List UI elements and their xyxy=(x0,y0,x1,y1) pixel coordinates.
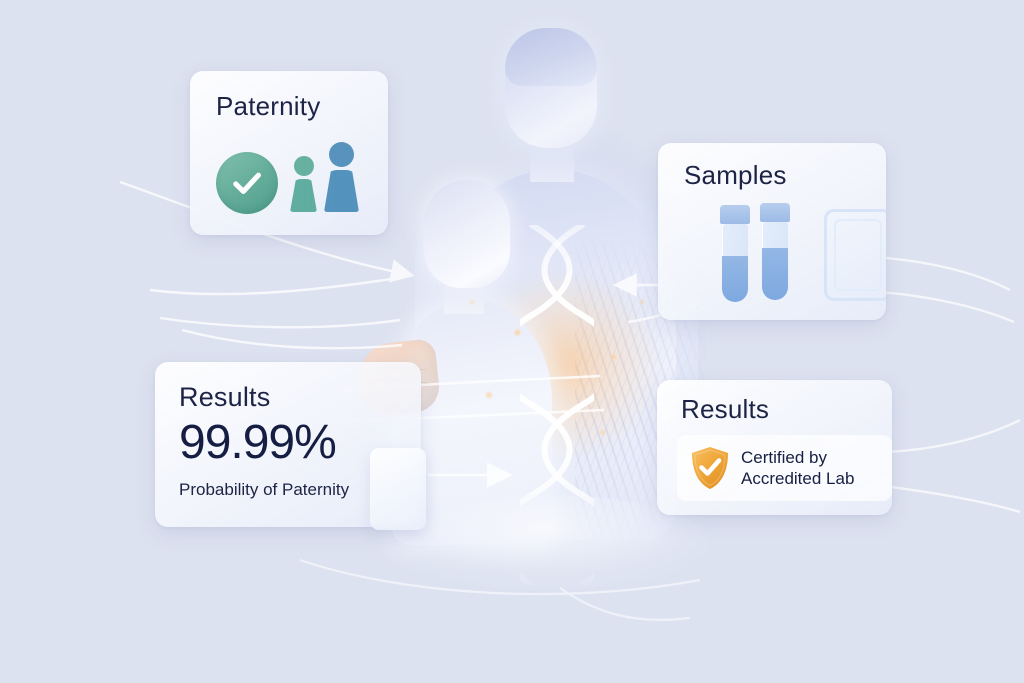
card-paternity[interactable]: Paternity xyxy=(190,71,388,235)
card-results-left-title: Results xyxy=(179,382,421,413)
paternity-icon-row xyxy=(216,142,388,214)
card-results-right[interactable]: Results Certified by Accredited Lab xyxy=(657,380,892,515)
card-paternity-title: Paternity xyxy=(216,91,388,122)
person-adult-glyph xyxy=(324,142,359,212)
card-blank-overlay[interactable] xyxy=(370,448,426,530)
shield-check-icon xyxy=(690,446,730,490)
person-child-glyph xyxy=(290,156,317,212)
check-circle-icon xyxy=(216,152,278,214)
infographic-canvas: Paternity Samples xyxy=(0,0,1024,683)
samples-icon-row xyxy=(684,203,886,307)
badge-line-2: Accredited Lab xyxy=(741,468,854,489)
card-samples-title: Samples xyxy=(684,160,886,191)
family-people-icon xyxy=(290,142,359,214)
card-results-right-title: Results xyxy=(681,394,892,425)
card-samples[interactable]: Samples xyxy=(658,143,886,320)
test-tube-icon xyxy=(720,205,750,301)
badge-text-block: Certified by Accredited Lab xyxy=(741,447,854,489)
connector-lines xyxy=(0,0,1024,683)
tube-cap xyxy=(760,203,790,222)
accreditation-badge: Certified by Accredited Lab xyxy=(677,435,892,501)
tube-cap xyxy=(720,205,750,224)
test-tube-icon xyxy=(760,203,790,299)
tube-glass xyxy=(722,224,748,302)
badge-line-1: Certified by xyxy=(741,447,854,468)
specimen-box-icon xyxy=(824,209,886,301)
tube-glass xyxy=(762,222,788,300)
